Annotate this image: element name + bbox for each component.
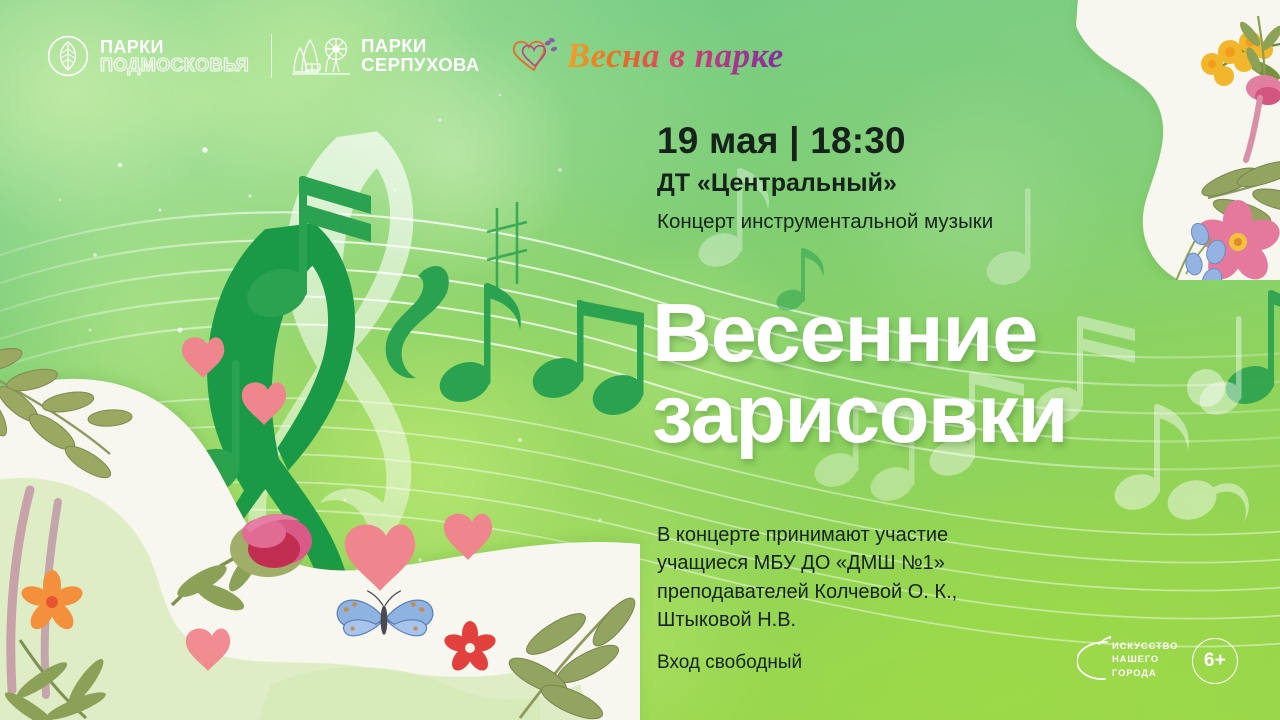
header-logos: ПАРКИ ПОДМОСКОВЬЯ <box>47 28 784 84</box>
heart-butterfly-icon <box>510 36 560 76</box>
event-title-line2: зарисовки <box>652 373 1272 454</box>
logo-parks-serpukhov-line2: СЕРПУХОВА <box>361 56 480 75</box>
logo-divider <box>271 34 272 78</box>
logo-parks-serpukhov[interactable]: ПАРКИ СЕРПУХОВА <box>292 34 480 78</box>
park-ferris-wheel-icon <box>292 34 350 78</box>
credits-line-1: В концерте принимают участие <box>657 521 1127 549</box>
event-title: Весенние зарисовки <box>652 292 1272 455</box>
age-rating-badge: 6+ <box>1192 638 1238 684</box>
logo-parks-moscow-line1: ПАРКИ <box>100 38 249 56</box>
event-subtitle: Концерт инструментальной музыки <box>657 210 1177 234</box>
free-entry-note: Вход свободный <box>657 652 802 675</box>
logo-spring-in-park-text: Весна в парке <box>567 36 784 76</box>
event-credits: В концерте принимают участие учащиеся МБ… <box>657 521 1127 635</box>
credits-line-4: Штыковой Н.В. <box>657 606 1127 634</box>
event-header-info: 19 мая | 18:30 ДТ «Центральный» Концерт … <box>657 122 1177 234</box>
event-date-time: 19 мая | 18:30 <box>657 122 1177 159</box>
credits-line-3: преподавателей Колчевой О. К., <box>657 578 1127 606</box>
logo-parks-moscow[interactable]: ПАРКИ ПОДМОСКОВЬЯ <box>47 35 249 77</box>
event-venue: ДТ «Центральный» <box>657 171 1177 196</box>
art-logo-line2: НАШЕГО <box>1112 652 1178 665</box>
logo-art-of-our-city[interactable]: ИСКУССТВО НАШЕГО ГОРОДА <box>1077 636 1178 682</box>
event-poster: ПАРКИ ПОДМОСКОВЬЯ <box>0 0 1280 720</box>
leaf-in-circle-icon <box>47 35 89 77</box>
event-title-line1: Весенние <box>652 286 1037 379</box>
logo-spring-in-park[interactable]: Весна в парке <box>510 36 784 76</box>
credits-line-2: учащиеся МБУ ДО «ДМШ №1» <box>657 549 1127 577</box>
art-logo-line3: ГОРОДА <box>1112 666 1178 679</box>
swoosh-arc-icon <box>1077 636 1111 682</box>
art-logo-line1: ИСКУССТВО <box>1112 639 1178 652</box>
logo-parks-moscow-line2: ПОДМОСКОВЬЯ <box>100 56 249 74</box>
